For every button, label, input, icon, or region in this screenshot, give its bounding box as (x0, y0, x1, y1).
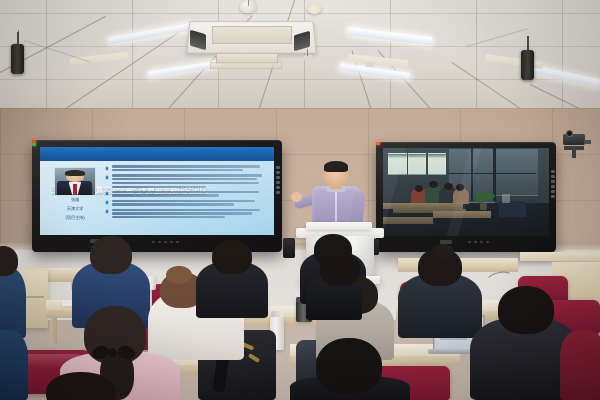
lecture-hall-desk (520, 252, 600, 261)
panel-bottom-controls-left[interactable] (152, 241, 179, 243)
ceiling-mount (366, 62, 374, 67)
slide-bullet-list (106, 165, 265, 230)
slide-title-bar (40, 147, 274, 161)
presenter-portrait-photo (54, 167, 96, 195)
lecture-hall-photo: 天津大学的计算实验金融与大数据金融研究团队 张维 天津大学 (项目主持) (0, 0, 600, 400)
interactive-flat-panel-left[interactable]: 天津大学的计算实验金融与大数据金融研究团队 张维 天津大学 (项目主持) (32, 140, 282, 252)
slide-bullet-item (106, 191, 265, 197)
panel-side-buttons-left-display[interactable] (276, 166, 280, 194)
slide-screen[interactable]: 天津大学的计算实验金融与大数据金融研究团队 张维 天津大学 (项目主持) (40, 147, 274, 235)
podium-side-equipment (283, 238, 295, 258)
portrait-caption-name: 张维 (47, 197, 103, 203)
slide-bullet-item (106, 165, 265, 171)
panel-side-buttons-right-display[interactable] (551, 170, 555, 198)
slide-bullet-item (106, 209, 265, 218)
ir-sensor-right-display (502, 194, 510, 203)
portrait-caption-role: (项目主持) (47, 215, 103, 221)
ceiling-mount (304, 55, 312, 60)
remote-classroom-video (383, 148, 549, 236)
video-feed-screen[interactable] (383, 148, 549, 236)
interactive-flat-panel-right[interactable] (376, 142, 556, 252)
ceiling (0, 0, 600, 112)
presenter-hand (291, 192, 302, 202)
portrait-caption-affiliation: 天津大学 (47, 206, 103, 212)
status-led-left-display (32, 143, 36, 146)
presenter-hair (324, 161, 348, 172)
panel-bottom-controls-right[interactable] (468, 241, 489, 243)
slide-bullet-item (106, 200, 265, 206)
slide-bullet-item (106, 174, 265, 187)
presentation-slide: 天津大学的计算实验金融与大数据金融研究团队 张维 天津大学 (项目主持) (40, 147, 274, 235)
smoke-detector-icon (307, 4, 322, 14)
power-led-right-display (376, 142, 380, 145)
